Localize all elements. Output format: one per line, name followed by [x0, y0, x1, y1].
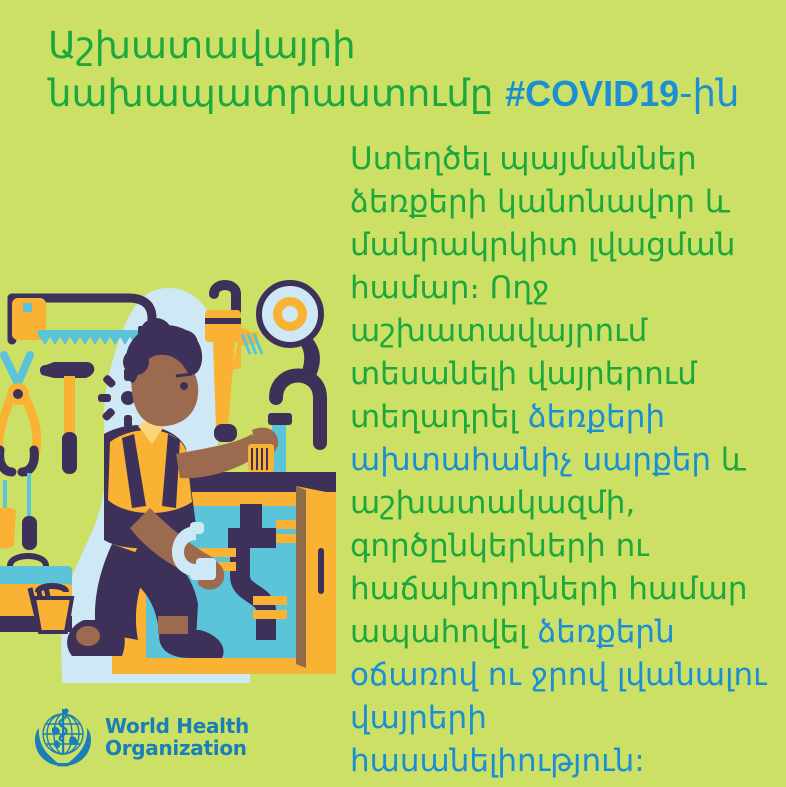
covid-awareness-poster: Աշխատավայրի նախապատրաստումը #COVID19-ին …	[0, 0, 786, 787]
sink-faucet	[268, 376, 320, 476]
who-wordmark-line-2: Organization	[105, 737, 249, 759]
hammer-icon	[40, 362, 94, 474]
cabinet-door	[296, 486, 336, 672]
title-line-2-prefix: նախապատրաստումը	[48, 72, 505, 115]
title-line-2: նախապատրաստումը #COVID19-ին	[48, 70, 748, 118]
footer-logos: World Health Organization NCDC NATIONAL …	[0, 690, 786, 787]
toolbox-icon	[0, 556, 72, 632]
scrub-brush	[248, 444, 274, 472]
who-wordmark-line-1: World Health	[105, 715, 249, 737]
page-title: Աշխատավայրի նախապատրաստումը #COVID19-ին	[48, 22, 748, 118]
covid19-hashtag: #COVID19	[505, 73, 679, 114]
plumber-illustration	[0, 258, 336, 683]
who-logo: World Health Organization	[30, 704, 249, 770]
title-line-1: Աշխատավայրի	[48, 22, 748, 70]
body-paragraph: Ստեղծել պայմաններ ձեռքերի կանոնավոր և մա…	[350, 138, 770, 783]
body-segment-1: Ստեղծել պայմաններ ձեռքերի կանոնավոր և մա…	[350, 141, 735, 435]
pliers-icon	[0, 355, 37, 472]
plunger-icon	[259, 283, 321, 376]
who-wordmark: World Health Organization	[105, 715, 249, 759]
screwdriver-icon	[0, 473, 37, 550]
covid19-suffix: -ին	[679, 72, 739, 115]
who-emblem-icon	[30, 704, 96, 770]
